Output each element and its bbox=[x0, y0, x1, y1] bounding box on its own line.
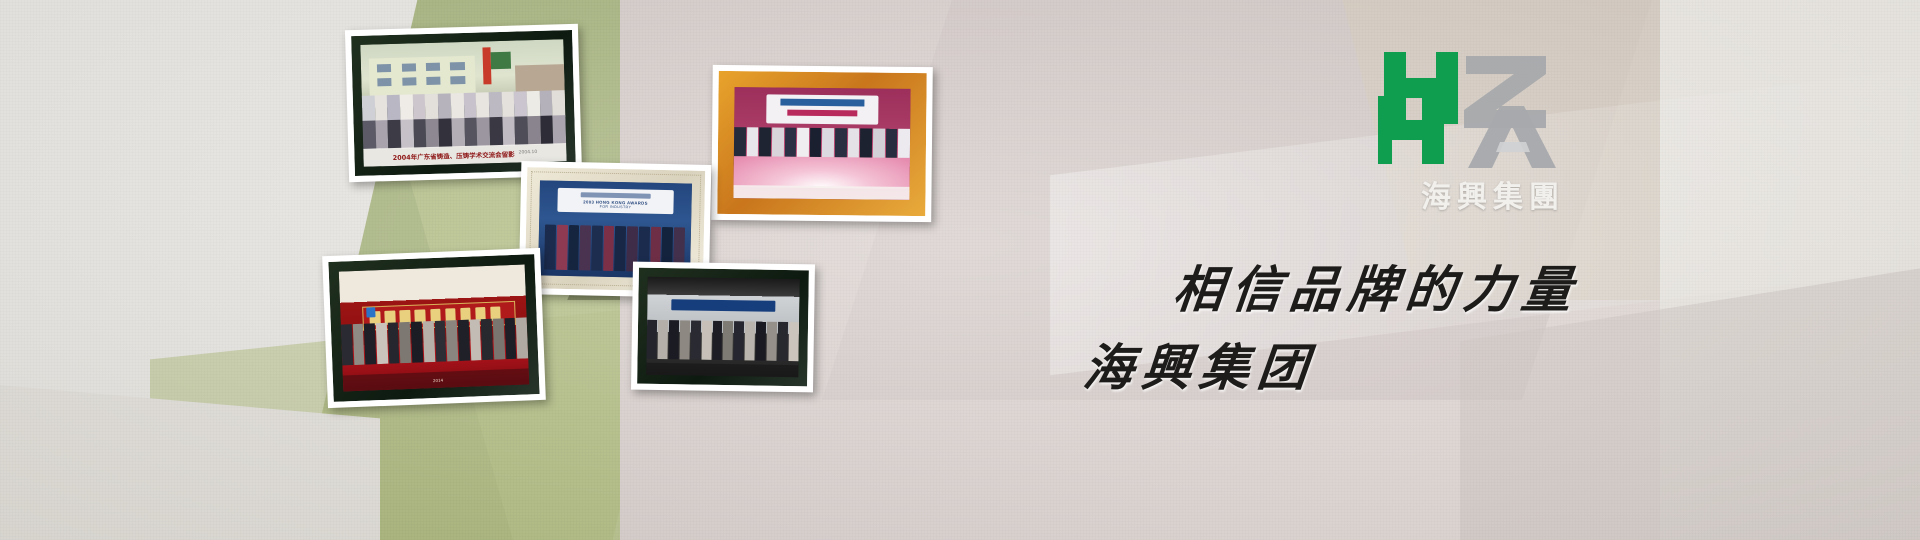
company-banner: 2004年广东省铸造、压铸学术交流会留影 2004.10 bbox=[0, 0, 1920, 540]
entrance-sign bbox=[672, 299, 776, 312]
photo-scene: 2004年广东省铸造、压铸学术交流会留影 2004.10 bbox=[360, 39, 566, 167]
logo-letter-h-upper-icon bbox=[1384, 52, 1458, 124]
photo-inner: 2014 bbox=[328, 254, 539, 402]
photo-caption-text: 2004年广东省铸造、压铸学术交流会留影 bbox=[392, 148, 514, 161]
photo-scene bbox=[733, 87, 910, 200]
photo-crowd bbox=[362, 90, 566, 149]
photo-inner bbox=[637, 268, 809, 387]
slogan-line-2: 海興集团 bbox=[1056, 328, 1584, 400]
background-art bbox=[0, 0, 1920, 540]
logo-letter-h-lower-icon bbox=[1378, 96, 1444, 164]
photo-frame-entrance-group[interactable] bbox=[631, 262, 815, 393]
photo-caption-date: 2014 bbox=[433, 377, 443, 382]
photo-image-conference-2004: 2004年广东省铸造、压铸学术交流会留影 2004.10 bbox=[360, 39, 566, 167]
photo-caption-date: 2004.10 bbox=[519, 150, 538, 156]
certificate-subtitle: FOR INDUSTRY bbox=[600, 205, 632, 210]
photo-frame-conference-2004[interactable]: 2004年广东省铸造、压铸学术交流会留影 2004.10 bbox=[345, 24, 582, 182]
photo-frame-award-ceremony[interactable] bbox=[711, 65, 933, 222]
hk-awards-logo-icon bbox=[581, 192, 650, 198]
photo-inner: 2004年广东省铸造、压铸学术交流会留影 2004.10 bbox=[351, 30, 576, 176]
photo-caption-bar bbox=[646, 363, 798, 377]
certificate-header: 2003 HONG KONG AWARDS FOR INDUSTRY bbox=[558, 187, 674, 214]
logo-company-name-cn: 海興集團 bbox=[1378, 172, 1608, 216]
brand-slogan: 相信品牌的力量 海興集团 bbox=[1060, 250, 1580, 400]
bg-texture bbox=[0, 0, 1920, 540]
slogan-line-1: 相信品牌的力量 bbox=[1056, 250, 1584, 322]
company-logo[interactable]: 海興集團 bbox=[1378, 48, 1608, 218]
stage-emblem-icon bbox=[366, 307, 376, 317]
photo-scene: 2014 bbox=[339, 264, 529, 391]
photo-image-award-ceremony bbox=[733, 87, 910, 200]
photo-image-stage-group: 2014 bbox=[339, 264, 529, 391]
photo-inner bbox=[717, 71, 926, 216]
logo-mark-hza bbox=[1378, 48, 1608, 168]
photo-scene bbox=[646, 277, 800, 377]
photo-image-entrance-group bbox=[646, 277, 800, 377]
photo-caption-bar bbox=[733, 185, 909, 200]
photo-crowd bbox=[646, 320, 799, 362]
photo-crowd bbox=[341, 317, 528, 365]
photo-frame-stage-group[interactable]: 2014 bbox=[322, 248, 546, 408]
